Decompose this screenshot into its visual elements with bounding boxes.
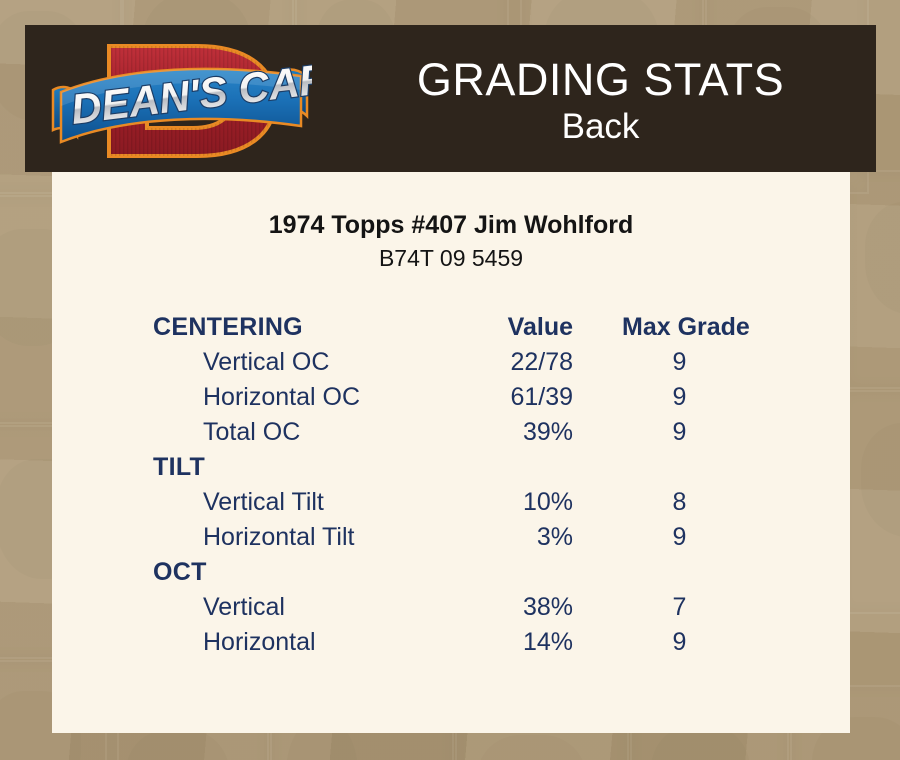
table-header-row: CENTERING Value Max Grade [52,310,850,345]
table-row: Horizontal OC 61/39 9 [52,380,850,415]
row-grade: 9 [632,520,727,555]
section-row-oct: OCT [52,555,850,590]
row-value: 14% [373,625,573,660]
row-grade: 7 [632,590,727,625]
section-header-tilt: TILT [153,450,205,485]
deans-cards-logo[interactable]: DEAN'S CARDS [47,30,312,172]
column-header-value: Value [373,310,573,345]
grading-stats-table: CENTERING Value Max Grade Vertical OC 22… [52,310,850,660]
row-grade: 9 [632,345,727,380]
row-label: Vertical Tilt [203,485,324,520]
row-grade: 9 [632,625,727,660]
table-row: Total OC 39% 9 [52,415,850,450]
row-label: Horizontal OC [203,380,360,415]
table-row: Vertical Tilt 10% 8 [52,485,850,520]
row-label: Vertical [203,590,285,625]
row-label: Horizontal [203,625,316,660]
row-value: 10% [373,485,573,520]
section-header-centering: CENTERING [153,310,303,345]
content-panel: 1974 Topps #407 Jim Wohlford B74T 09 545… [52,172,850,733]
table-row: Vertical 38% 7 [52,590,850,625]
page-subtitle: Back [562,106,640,148]
section-row-tilt: TILT [52,450,850,485]
card-id: B74T 09 5459 [52,244,850,272]
row-label: Vertical OC [203,345,329,380]
grading-stats-page: DEAN'S CARDS GRADING STATS Back 1974 Top… [0,0,900,760]
row-grade: 9 [632,415,727,450]
table-row: Horizontal 14% 9 [52,625,850,660]
row-grade: 8 [632,485,727,520]
section-header-oct: OCT [153,555,207,590]
card-title: 1974 Topps #407 Jim Wohlford [52,210,850,240]
table-row: Vertical OC 22/78 9 [52,345,850,380]
table-row: Horizontal Tilt 3% 9 [52,520,850,555]
row-value: 3% [373,520,573,555]
row-label: Horizontal Tilt [203,520,354,555]
row-value: 61/39 [373,380,573,415]
row-grade: 9 [632,380,727,415]
row-value: 39% [373,415,573,450]
row-value: 22/78 [373,345,573,380]
column-header-max-grade: Max Grade [622,310,737,345]
row-value: 38% [373,590,573,625]
row-label: Total OC [203,415,300,450]
page-header: DEAN'S CARDS GRADING STATS Back [25,25,876,172]
page-title: GRADING STATS [417,54,784,106]
